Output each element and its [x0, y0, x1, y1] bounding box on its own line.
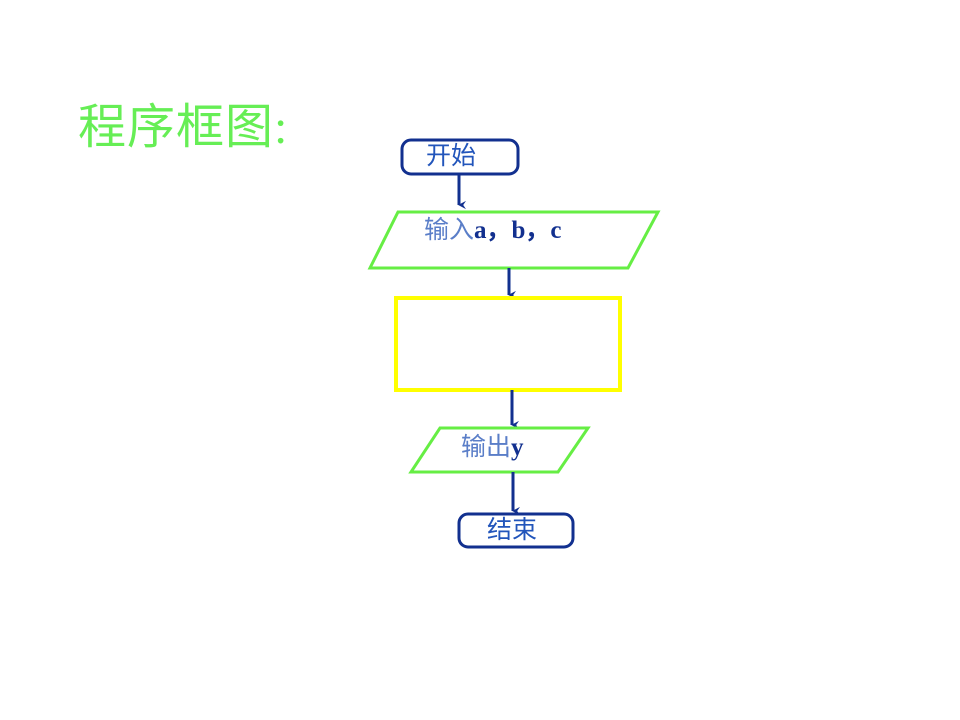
node-start-shape[interactable]: [402, 140, 518, 174]
flowchart-diagram: [0, 0, 960, 720]
node-process-shape[interactable]: [396, 298, 620, 390]
node-end-shape[interactable]: [459, 514, 573, 547]
node-input-shape[interactable]: [370, 212, 658, 268]
node-output-shape[interactable]: [411, 428, 588, 472]
slide-canvas: 程序框图: 开始 输入a，b，c 输出y 结束: [0, 0, 960, 720]
